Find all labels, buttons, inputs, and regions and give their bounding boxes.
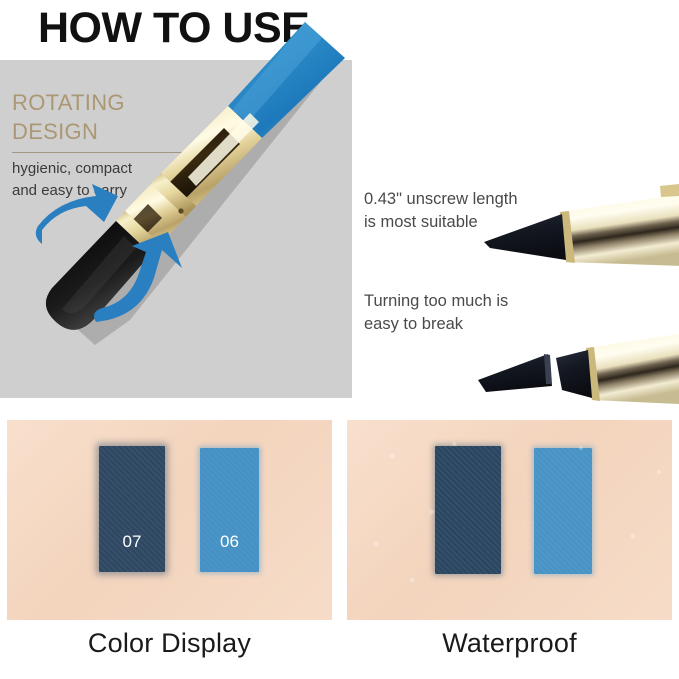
header-banner: HOW TO USE <box>0 0 679 60</box>
swatch-panel-color-display: 07 06 <box>7 420 332 620</box>
instruction-1-line2: is most suitable <box>364 211 518 234</box>
rotating-design-subtitle-line1: hygienic, compact <box>12 158 132 180</box>
rotating-design-heading: ROTATING DESIGN <box>12 88 125 147</box>
rotating-design-subtitle-line2: and easy to carry <box>12 180 132 202</box>
swatch-06-label: 06 <box>200 532 259 552</box>
water-droplets-icon <box>347 420 672 620</box>
swatch-07-dark-navy <box>99 446 165 572</box>
rotating-design-subtitle: hygienic, compact and easy to carry <box>12 158 132 202</box>
caption-color-display: Color Display <box>7 628 332 659</box>
instruction-2-line2: easy to break <box>364 313 508 336</box>
rotating-design-panel: ROTATING DESIGN hygienic, compact and ea… <box>0 60 352 398</box>
instructions-panel: 0.43" unscrew length is most suitable <box>352 172 679 410</box>
rotating-design-heading-line1: ROTATING <box>12 88 125 117</box>
instruction-text-2: Turning too much is easy to break <box>364 290 508 336</box>
page-title: HOW TO USE <box>38 4 309 53</box>
instruction-1-line1: 0.43" unscrew length <box>364 188 518 211</box>
divider <box>12 152 207 153</box>
pencil-tip-broken-photo <box>464 324 679 410</box>
caption-waterproof: Waterproof <box>347 628 672 659</box>
swatch-07-label: 07 <box>99 532 165 552</box>
instruction-text-1: 0.43" unscrew length is most suitable <box>364 188 518 234</box>
swatch-panel-waterproof <box>347 420 672 620</box>
rotating-design-heading-line2: DESIGN <box>12 117 125 146</box>
instruction-2-line1: Turning too much is <box>364 290 508 313</box>
swatch-06-light-blue <box>200 448 259 572</box>
